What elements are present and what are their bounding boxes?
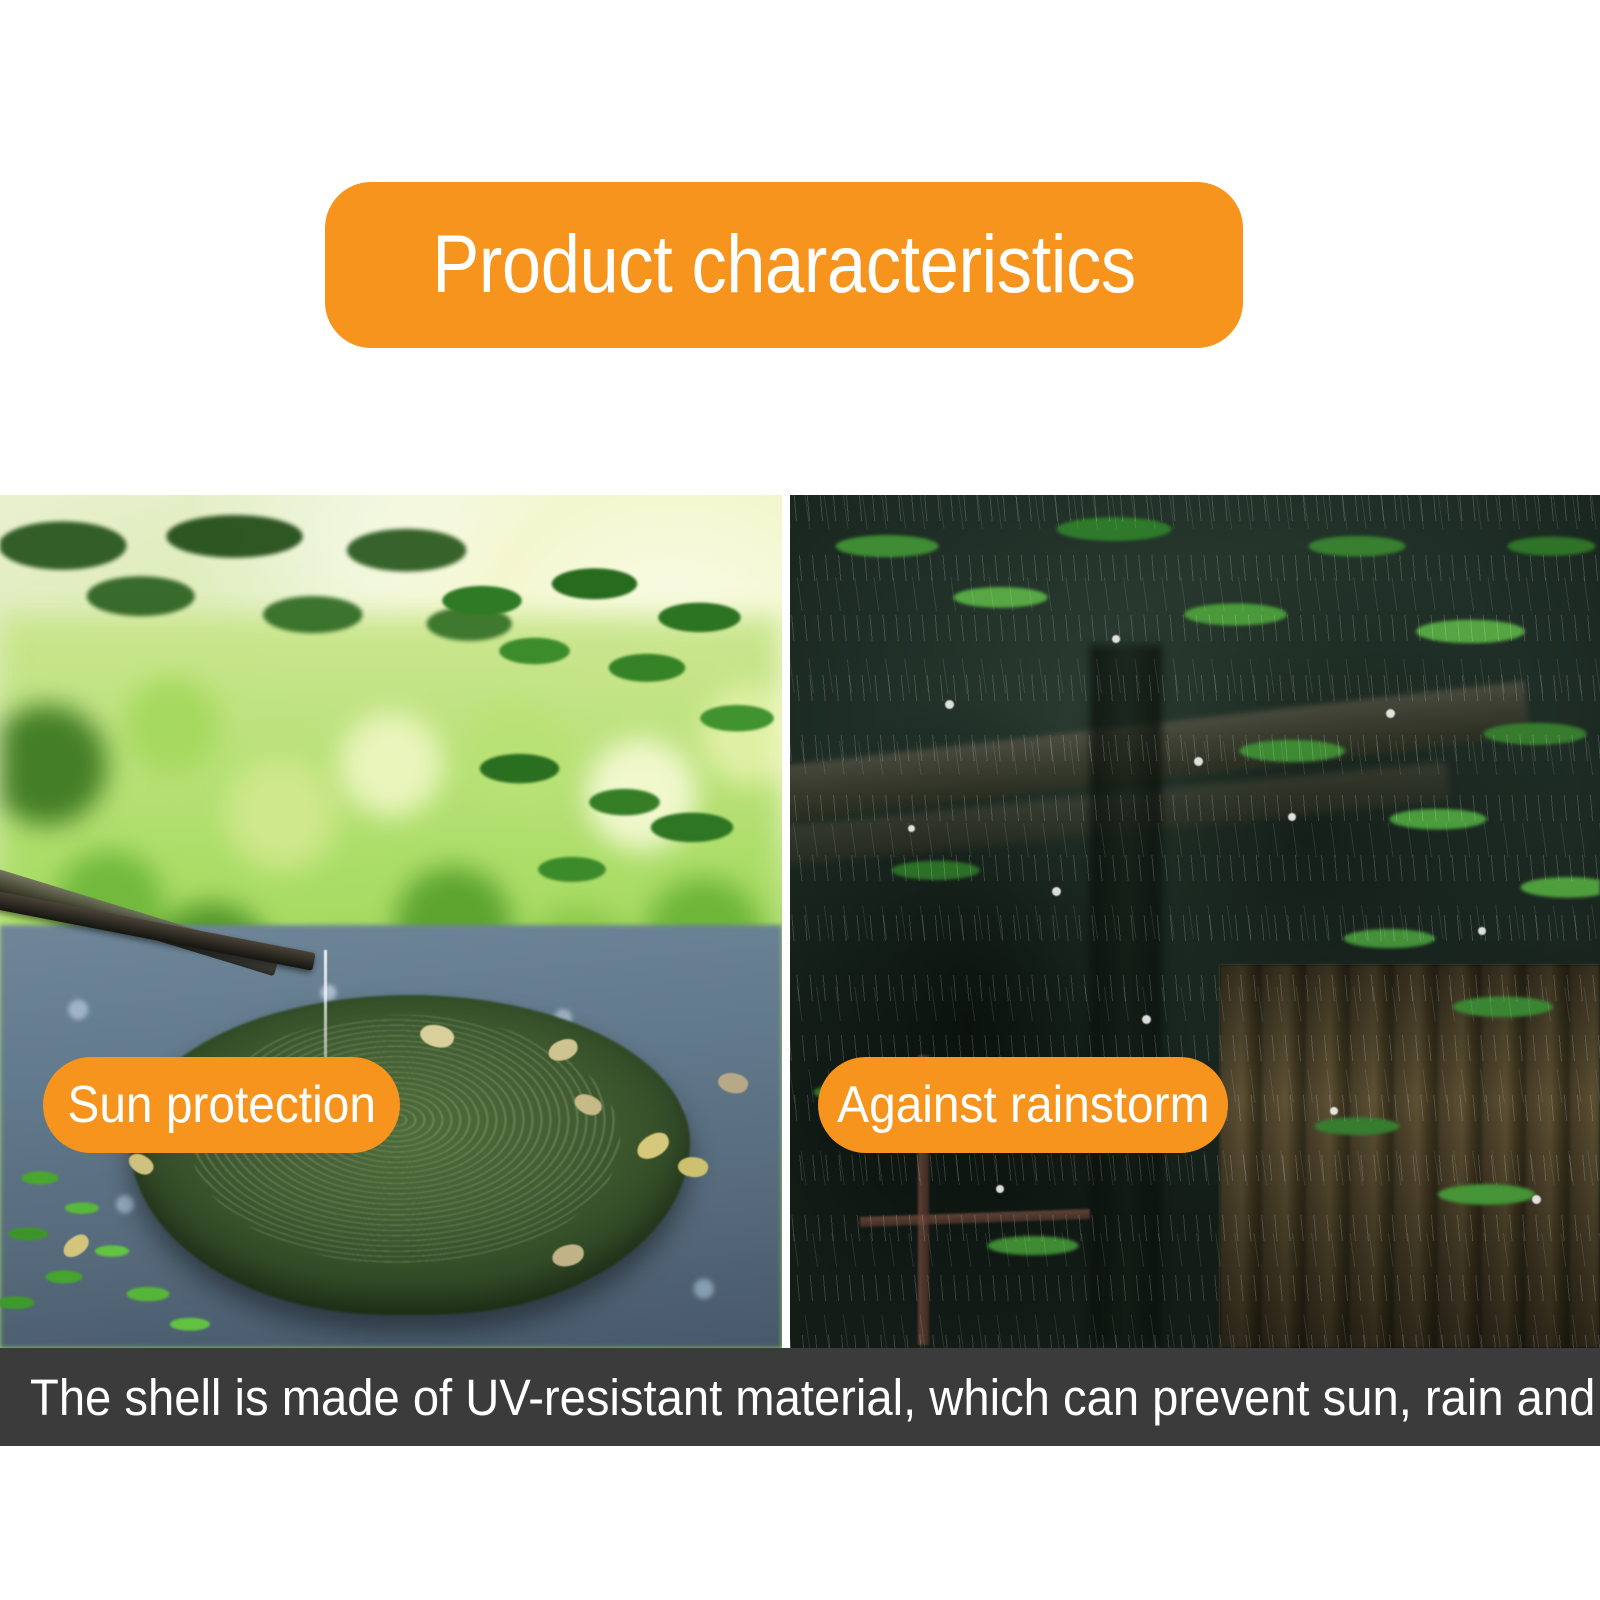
rain-droplet — [908, 825, 915, 832]
photo-panel-sun-protection: Sun protection — [0, 495, 782, 1348]
rain-droplet — [1532, 1195, 1541, 1204]
badge-against-rainstorm-label: Against rainstorm — [837, 1079, 1209, 1131]
rain-droplet — [1142, 1015, 1151, 1024]
product-feature-banner: Product characteristics — [0, 0, 1600, 1600]
feature-photo-strip: Sun protection — [0, 495, 1600, 1348]
photo-panel-against-rainstorm: Against rainstorm — [790, 495, 1600, 1348]
caption-text: The shell is made of UV-resistant materi… — [30, 1372, 1600, 1423]
rain-streaks-far — [790, 495, 1600, 1348]
rain-droplet — [1288, 813, 1296, 821]
rain-droplet — [1112, 635, 1120, 643]
rain-droplet — [1052, 887, 1061, 896]
badge-sun-protection[interactable]: Sun protection — [43, 1057, 400, 1153]
rain-droplet — [1386, 709, 1395, 718]
rain-droplet — [1330, 1107, 1338, 1115]
rain-droplet — [1478, 927, 1486, 935]
rain-droplet — [996, 1185, 1004, 1193]
rain-droplet — [1194, 757, 1203, 766]
caption-bar: The shell is made of UV-resistant materi… — [0, 1348, 1600, 1446]
page-title-banner: Product characteristics — [325, 182, 1243, 348]
badge-sun-protection-label: Sun protection — [67, 1079, 376, 1131]
badge-against-rainstorm[interactable]: Against rainstorm — [818, 1057, 1228, 1153]
rain-droplet — [945, 700, 954, 709]
page-title: Product characteristics — [432, 224, 1135, 306]
compound-leaf-branch — [407, 525, 782, 945]
